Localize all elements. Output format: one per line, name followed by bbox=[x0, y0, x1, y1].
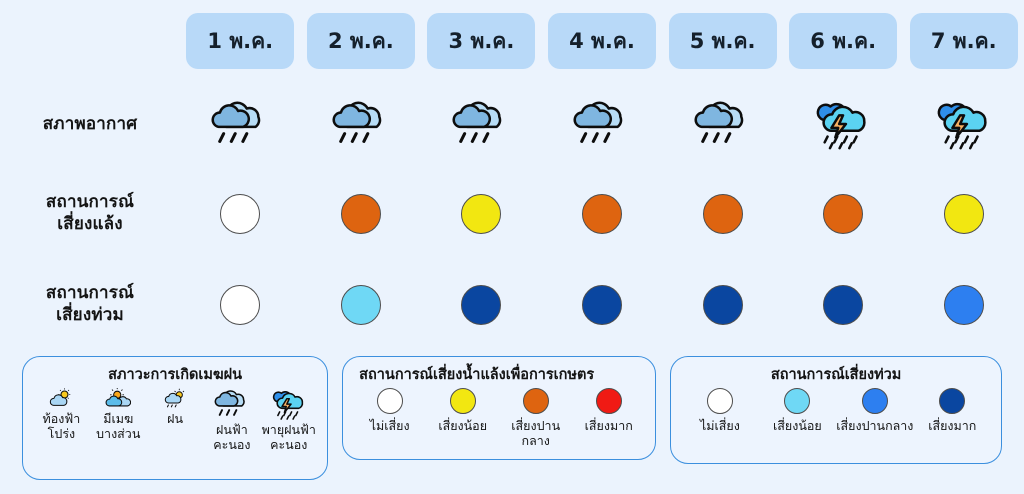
drought-cell bbox=[903, 168, 1024, 259]
legend-weather-caption: ท้องฟ้า โปร่ง bbox=[43, 412, 81, 442]
flood-status-dot bbox=[823, 285, 863, 325]
date-pill[interactable]: 3 พ.ค. bbox=[427, 13, 535, 69]
legend-flood-caption: เสี่ยงน้อย bbox=[773, 419, 822, 434]
weather-cell bbox=[662, 82, 783, 168]
legend-weather-caption: ฝน bbox=[167, 412, 183, 427]
legend-weather-item: พายุฝนฟ้า คะนอง bbox=[260, 388, 317, 453]
legend-flood-item: เสี่ยงมาก bbox=[914, 388, 991, 434]
legend-flood-caption: เสี่ยงปานกลาง bbox=[836, 419, 913, 434]
drought-cell bbox=[783, 168, 904, 259]
drought-status-dot bbox=[220, 194, 260, 234]
drought-status-dot bbox=[582, 194, 622, 234]
legend-drought-caption: เสี่ยงมาก bbox=[585, 419, 633, 434]
date-cell: 6 พ.ค. bbox=[783, 13, 904, 69]
legend-drought-caption: เสี่ยงปานกลาง bbox=[499, 419, 572, 449]
row-label-drought: สถานการณ์ เสี่ยงแล้ง bbox=[0, 192, 180, 235]
legend-weather-item: ฝนฟ้า คะนอง bbox=[203, 388, 260, 453]
legend-drought-item: เสี่ยงมาก bbox=[572, 388, 645, 434]
legend-drought-dot bbox=[450, 388, 476, 414]
flood-cell bbox=[783, 259, 904, 350]
date-pill[interactable]: 4 พ.ค. bbox=[548, 13, 656, 69]
thunderstorm-icon bbox=[812, 98, 874, 152]
flood-status-dot bbox=[461, 285, 501, 325]
drought-status-dot bbox=[703, 194, 743, 234]
legend-flood-caption: เสี่ยงมาก bbox=[928, 419, 976, 434]
weather-cell bbox=[903, 82, 1024, 168]
date-cell: 4 พ.ค. bbox=[542, 13, 663, 69]
thunderstorm-icon bbox=[270, 388, 308, 421]
flood-cell bbox=[301, 259, 422, 350]
legend-flood-item: เสี่ยงปานกลาง bbox=[836, 388, 913, 434]
drought-status-dot bbox=[341, 194, 381, 234]
thunderstorm-icon bbox=[933, 98, 995, 152]
flood-cell bbox=[421, 259, 542, 350]
drought-status-dot bbox=[461, 194, 501, 234]
weather-cell bbox=[783, 82, 904, 168]
flood-cell bbox=[180, 259, 301, 350]
legend-flood-dot bbox=[862, 388, 888, 414]
date-cell: 7 พ.ค. bbox=[903, 13, 1024, 69]
legend-weather-items: ท้องฟ้า โปร่งมีเมฆ บางส่วนฝนฝนฟ้า คะนองพ… bbox=[33, 388, 317, 453]
flood-risk-row: สถานการณ์ เสี่ยงท่วม bbox=[0, 259, 1024, 350]
date-cell: 5 พ.ค. bbox=[662, 13, 783, 69]
legend-drought-dot bbox=[596, 388, 622, 414]
rain-cloud-icon bbox=[209, 98, 271, 152]
row-label-weather: สภาพอากาศ bbox=[0, 114, 180, 135]
legend-weather-caption: ฝนฟ้า คะนอง bbox=[213, 423, 250, 453]
rain-cloud-icon bbox=[450, 98, 512, 152]
flood-status-dot bbox=[220, 285, 260, 325]
legend-weather-item: มีเมฆ บางส่วน bbox=[90, 388, 147, 442]
date-pill[interactable]: 6 พ.ค. bbox=[789, 13, 897, 69]
flood-status-dot bbox=[944, 285, 984, 325]
weather-condition-row: สภาพอากาศ bbox=[0, 82, 1024, 168]
weather-cell bbox=[542, 82, 663, 168]
legend-drought-caption: ไม่เสี่ยง bbox=[370, 419, 410, 434]
legend-flood-item: ไม่เสี่ยง bbox=[681, 388, 758, 434]
legend-flood-risk: สถานการณ์เสี่ยงท่วม ไม่เสี่ยงเสี่ยงน้อยเ… bbox=[670, 356, 1002, 464]
legend-flood-items: ไม่เสี่ยงเสี่ยงน้อยเสี่ยงปานกลางเสี่ยงมา… bbox=[681, 388, 991, 434]
rain-cloud-icon bbox=[692, 98, 754, 152]
date-pill[interactable]: 7 พ.ค. bbox=[910, 13, 1018, 69]
legend-drought-item: เสี่ยงน้อย bbox=[426, 388, 499, 434]
legend-area: สภาวะการเกิดเมฆฝน ท้องฟ้า โปร่งมีเมฆ บาง… bbox=[0, 356, 1024, 494]
legend-flood-caption: ไม่เสี่ยง bbox=[700, 419, 740, 434]
flood-dot-cells bbox=[180, 259, 1024, 350]
flood-cell bbox=[662, 259, 783, 350]
legend-flood-dot bbox=[707, 388, 733, 414]
legend-weather-title: สภาวะการเกิดเมฆฝน bbox=[108, 363, 242, 386]
legend-drought-dot bbox=[523, 388, 549, 414]
flood-cell bbox=[903, 259, 1024, 350]
date-cell: 3 พ.ค. bbox=[421, 13, 542, 69]
legend-drought-item: เสี่ยงปานกลาง bbox=[499, 388, 572, 449]
legend-drought-item: ไม่เสี่ยง bbox=[353, 388, 426, 434]
flood-status-dot bbox=[582, 285, 622, 325]
weather-cell bbox=[421, 82, 542, 168]
date-header-row: 1 พ.ค.2 พ.ค.3 พ.ค.4 พ.ค.5 พ.ค.6 พ.ค.7 พ.… bbox=[0, 0, 1024, 82]
legend-flood-title: สถานการณ์เสี่ยงท่วม bbox=[771, 363, 902, 386]
legend-weather-caption: พายุฝนฟ้า คะนอง bbox=[262, 423, 316, 453]
date-cell: 1 พ.ค. bbox=[180, 13, 301, 69]
rain-cloud-icon bbox=[571, 98, 633, 152]
legend-drought-risk: สถานการณ์เสี่ยงน้ำแล้งเพื่อการเกษตร ไม่เ… bbox=[342, 356, 656, 460]
weather-icon-cells bbox=[180, 82, 1024, 168]
drought-cell bbox=[301, 168, 422, 259]
flood-status-dot bbox=[703, 285, 743, 325]
forecast-table: 1 พ.ค.2 พ.ค.3 พ.ค.4 พ.ค.5 พ.ค.6 พ.ค.7 พ.… bbox=[0, 0, 1024, 350]
legend-flood-dot bbox=[784, 388, 810, 414]
drought-cell bbox=[180, 168, 301, 259]
rain-cloud-icon bbox=[213, 388, 251, 421]
legend-drought-dot bbox=[377, 388, 403, 414]
date-pill[interactable]: 2 พ.ค. bbox=[307, 13, 415, 69]
legend-drought-items: ไม่เสี่ยงเสี่ยงน้อยเสี่ยงปานกลางเสี่ยงมา… bbox=[353, 388, 645, 449]
row-label-flood: สถานการณ์ เสี่ยงท่วม bbox=[0, 283, 180, 326]
weather-cell bbox=[301, 82, 422, 168]
drought-dot-cells bbox=[180, 168, 1024, 259]
drought-cell bbox=[662, 168, 783, 259]
legend-flood-dot bbox=[939, 388, 965, 414]
legend-drought-title: สถานการณ์เสี่ยงน้ำแล้งเพื่อการเกษตร bbox=[353, 363, 594, 386]
legend-weather-caption: มีเมฆ บางส่วน bbox=[96, 412, 140, 442]
date-pill-cells: 1 พ.ค.2 พ.ค.3 พ.ค.4 พ.ค.5 พ.ค.6 พ.ค.7 พ.… bbox=[180, 0, 1024, 82]
date-pill[interactable]: 5 พ.ค. bbox=[669, 13, 777, 69]
sun-cloud-icon bbox=[49, 388, 74, 410]
rain-small-icon bbox=[163, 388, 188, 410]
flood-cell bbox=[542, 259, 663, 350]
drought-risk-row: สถานการณ์ เสี่ยงแล้ง bbox=[0, 168, 1024, 259]
date-cell: 2 พ.ค. bbox=[301, 13, 422, 69]
drought-status-dot bbox=[823, 194, 863, 234]
legend-weather-item: ท้องฟ้า โปร่ง bbox=[33, 388, 90, 442]
legend-flood-item: เสี่ยงน้อย bbox=[759, 388, 836, 434]
rain-cloud-icon bbox=[330, 98, 392, 152]
legend-weather-conditions: สภาวะการเกิดเมฆฝน ท้องฟ้า โปร่งมีเมฆ บาง… bbox=[22, 356, 328, 480]
flood-status-dot bbox=[341, 285, 381, 325]
date-pill[interactable]: 1 พ.ค. bbox=[186, 13, 294, 69]
legend-drought-caption: เสี่ยงน้อย bbox=[438, 419, 487, 434]
drought-status-dot bbox=[944, 194, 984, 234]
drought-cell bbox=[542, 168, 663, 259]
partly-cloudy-icon bbox=[105, 388, 131, 410]
weather-cell bbox=[180, 82, 301, 168]
legend-weather-item: ฝน bbox=[147, 388, 204, 427]
drought-cell bbox=[421, 168, 542, 259]
